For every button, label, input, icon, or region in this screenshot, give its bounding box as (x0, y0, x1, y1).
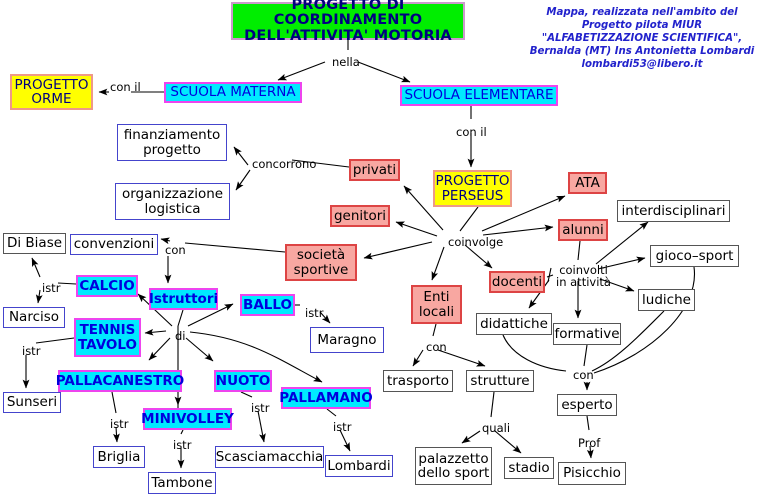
node-alunni[interactable]: alunni (558, 219, 608, 241)
link-label-con-il-orme: con il (110, 81, 141, 93)
link-label-prof: Prof (578, 437, 600, 449)
node-maragno[interactable]: Maragno (310, 327, 384, 353)
node-istruttori[interactable]: Istruttori (149, 288, 218, 310)
node-di-biase[interactable]: Di Biase (3, 233, 66, 254)
node-formative[interactable]: formative (553, 323, 621, 345)
node-narciso[interactable]: Narciso (3, 307, 65, 328)
node-finanziamento[interactable]: finanziamento progetto (117, 124, 227, 161)
node-progetto-orme[interactable]: PROGETTO ORME (10, 74, 93, 110)
link-label-con-conv: con (165, 244, 186, 256)
node-organizzazione[interactable]: organizzazione logistica (115, 183, 230, 220)
link-label-di: di (175, 330, 186, 342)
link-label-istr-dibiase: istr (42, 282, 60, 294)
node-scuola-materna[interactable]: SCUOLA MATERNA (164, 82, 302, 103)
node-pallacanestro[interactable]: PALLACANESTRO (58, 370, 182, 392)
node-gioco-sport[interactable]: gioco–sport (650, 245, 739, 267)
link-label-coinvolge: coinvolge (448, 236, 503, 248)
node-scasciamacchia[interactable]: Scasciamacchia (215, 446, 324, 468)
link-label-con-il-elem: con il (456, 126, 487, 138)
node-convenzioni[interactable]: convenzioni (70, 234, 158, 255)
node-societa-sportive[interactable]: società sportive (285, 244, 357, 281)
node-briglia[interactable]: Briglia (93, 446, 145, 468)
link-label-istr-ballo: istr (305, 307, 323, 319)
node-minivolley[interactable]: MINIVOLLEY (143, 408, 232, 430)
node-nuoto[interactable]: NUOTO (214, 370, 272, 392)
node-docenti[interactable]: docenti (489, 271, 545, 293)
node-scuola-elementare[interactable]: SCUOLA ELEMENTARE (400, 85, 558, 106)
node-sunseri[interactable]: Sunseri (3, 392, 61, 413)
node-enti-locali[interactable]: Enti locali (411, 285, 462, 324)
node-stadio[interactable]: stadio (504, 457, 554, 479)
link-label-con-enti: con (426, 341, 447, 353)
link-label-istr-lomb: istr (333, 421, 351, 433)
node-pisicchio[interactable]: Pisicchio (558, 462, 626, 485)
node-calcio[interactable]: CALCIO (76, 275, 138, 297)
link-label-istr-scas: istr (251, 402, 269, 414)
map-credit-text: Mappa, realizzata nell'ambito del Proget… (508, 6, 776, 71)
link-label-quali: quali (482, 422, 510, 434)
node-interdisciplinari[interactable]: interdisciplinari (617, 200, 730, 222)
link-label-istr-briglia: istr (110, 418, 128, 430)
node-didattiche[interactable]: didattiche (476, 313, 552, 335)
node-tambone[interactable]: Tambone (148, 472, 216, 494)
node-ballo[interactable]: BALLO (240, 294, 295, 316)
link-label-con-esperto: con (573, 369, 594, 381)
node-progetto-perseus[interactable]: PROGETTO PERSEUS (433, 170, 512, 207)
node-titolo[interactable]: PROGETTO DI COORDINAMENTO DELL'ATTIVITA'… (231, 2, 465, 40)
node-ata[interactable]: ATA (568, 172, 607, 194)
node-genitori[interactable]: genitori (330, 205, 390, 227)
node-tennis-tavolo[interactable]: TENNIS TAVOLO (74, 318, 141, 357)
node-pallamano[interactable]: PALLAMANO (281, 387, 371, 409)
node-ludiche[interactable]: ludiche (638, 289, 695, 311)
link-label-concorrono: concorrono (252, 158, 316, 170)
concept-map-canvas: Mappa, realizzata nell'ambito del Proget… (0, 0, 777, 495)
link-label-istr-tambone: istr (173, 439, 191, 451)
link-label-istr-sunseri: istr (22, 345, 40, 357)
link-label-coinvolti: coinvolti in attività (556, 264, 611, 288)
node-lombardi[interactable]: Lombardi (325, 455, 393, 477)
link-label-nella: nella (332, 56, 360, 68)
node-esperto[interactable]: esperto (557, 394, 617, 416)
node-privati[interactable]: privati (349, 159, 400, 181)
node-strutture[interactable]: strutture (466, 370, 534, 392)
node-trasporto[interactable]: trasporto (383, 370, 453, 392)
node-palazzetto[interactable]: palazzetto dello sport (415, 447, 492, 485)
